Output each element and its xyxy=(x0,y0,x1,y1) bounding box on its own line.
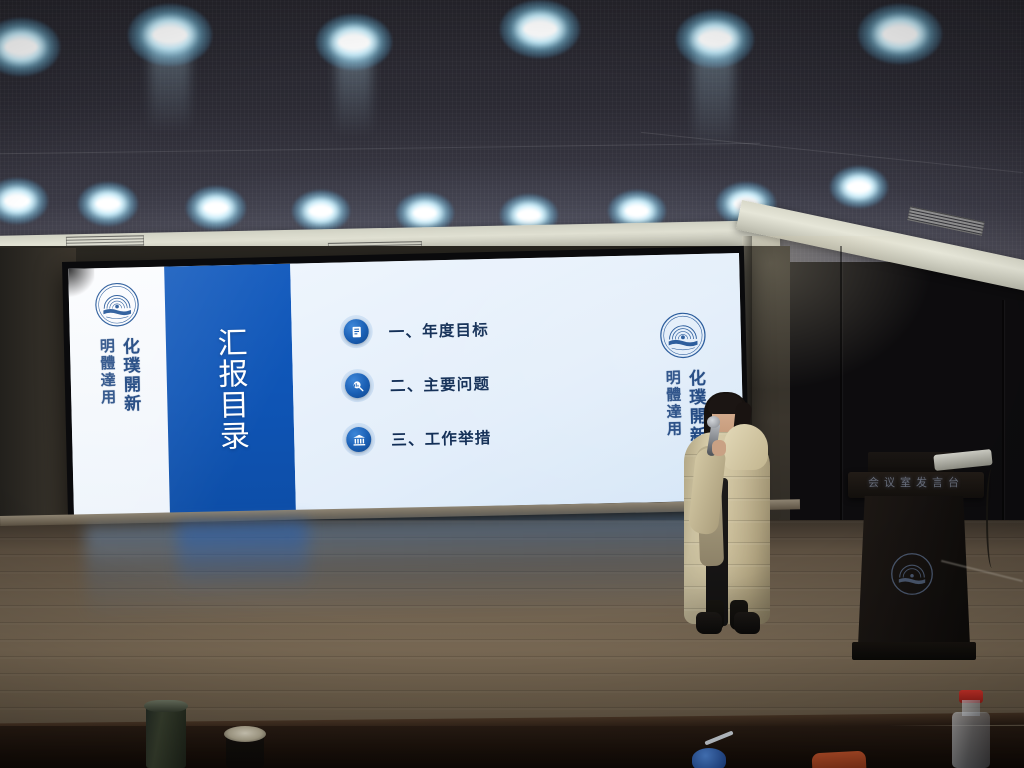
magnifier-chart-icon xyxy=(345,373,371,399)
orange-object xyxy=(812,751,867,768)
ceiling-light xyxy=(830,166,888,208)
university-circular-emblem-icon xyxy=(658,310,707,359)
ceiling-light xyxy=(500,0,580,58)
cup-rim xyxy=(224,726,266,742)
institution-building-icon xyxy=(346,427,372,453)
wall-seam xyxy=(840,246,842,546)
light-beam xyxy=(150,48,190,132)
slide-title: 汇报目录 xyxy=(211,326,249,451)
presenter-boot xyxy=(696,612,722,634)
tumbler xyxy=(146,704,186,768)
microphone-head-icon xyxy=(707,416,720,428)
agenda-item-2-label: 二、主要问题 xyxy=(390,371,491,395)
light-beam xyxy=(336,56,372,136)
conference-room-scene: 化璞開新 明體達用 汇报目录 xyxy=(0,0,1024,768)
slide-title-band: 汇报目录 xyxy=(164,264,296,514)
podium: 会议室发言台 xyxy=(846,452,986,672)
university-circular-emblem-icon xyxy=(93,281,140,328)
presentation-slide: 化璞開新 明體達用 汇报目录 xyxy=(68,253,745,516)
university-circular-emblem-icon xyxy=(890,552,934,596)
screen-corner-shadow xyxy=(68,268,95,299)
presenter xyxy=(668,386,786,632)
document-list-icon xyxy=(343,319,369,345)
coat-hood xyxy=(724,424,768,470)
ceiling-light xyxy=(858,4,942,64)
light-beam xyxy=(694,54,734,150)
presenter-hand xyxy=(712,440,726,456)
presenter-boot xyxy=(734,612,760,634)
calligraphy-column-left: 明體達用 xyxy=(98,338,117,414)
podium-title: 会议室发言台 xyxy=(850,474,982,490)
ceiling-light xyxy=(292,190,350,232)
blue-object xyxy=(692,748,726,768)
ceiling-light xyxy=(186,186,246,230)
podium-base xyxy=(852,642,976,660)
projection-screen: 化璞開新 明體達用 汇报目录 xyxy=(62,246,750,524)
agenda-item-1-label: 一、年度目标 xyxy=(388,317,489,341)
screen-reflection-blue xyxy=(177,521,308,594)
ceiling-light xyxy=(78,182,138,226)
tumbler-lid xyxy=(144,700,188,712)
ceiling xyxy=(0,0,1024,262)
calligraphy-column-right: 化璞開新 xyxy=(119,337,140,413)
agenda-item-3-label: 三、工作举措 xyxy=(391,425,492,449)
power-cable xyxy=(986,468,998,568)
slide-left-logo-panel: 化璞開新 明體達用 xyxy=(68,267,170,516)
water-bottle xyxy=(952,712,990,768)
slide-calligraphy-left: 化璞開新 明體達用 xyxy=(98,337,140,414)
